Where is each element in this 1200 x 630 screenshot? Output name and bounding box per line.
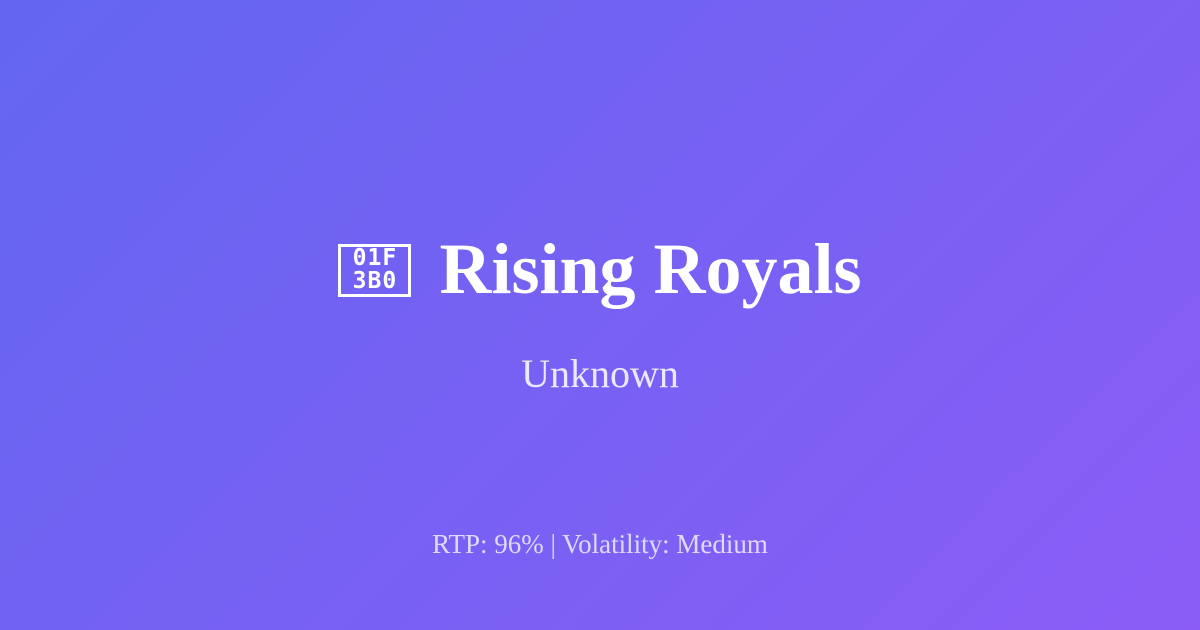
game-og-card: 01F 3B0 Rising Royals Unknown RTP: 96% |… [0, 0, 1200, 630]
tofu-codepoint-line-2: 3B0 [353, 270, 398, 293]
game-provider: Unknown [521, 350, 679, 398]
title-row: 01F 3B0 Rising Royals [338, 232, 861, 308]
game-title: Rising Royals [439, 232, 861, 308]
game-meta-stats: RTP: 96% | Volatility: Medium [0, 528, 1200, 560]
tofu-codepoint-line-1: 01F [353, 247, 398, 270]
slot-machine-emoji-icon: 01F 3B0 [338, 244, 411, 297]
